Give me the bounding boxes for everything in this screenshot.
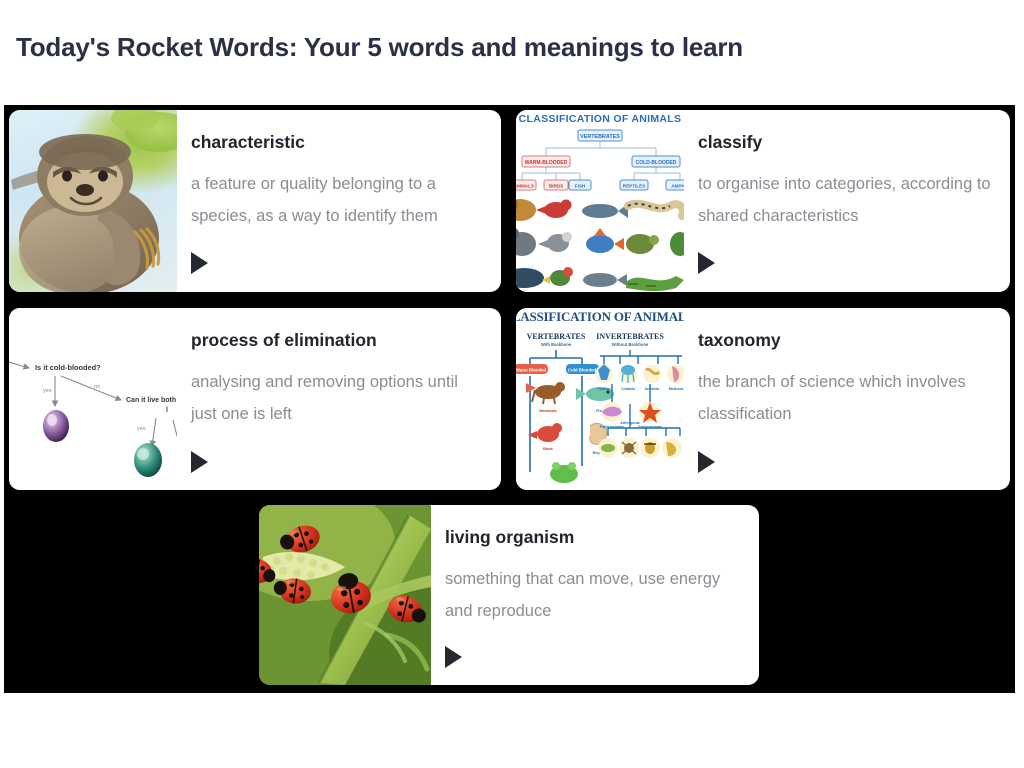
svg-text:Is it cold-blooded?: Is it cold-blooded? — [35, 363, 101, 372]
word-card-classify[interactable]: CLASSIFICATION OF ANIMALS VERTEBRATES WA… — [516, 110, 1010, 292]
svg-text:WARM-BLOODED: WARM-BLOODED — [525, 160, 568, 166]
svg-text:CLASSIFICATION OF ANIMALS: CLASSIFICATION OF ANIMALS — [516, 309, 684, 324]
svg-text:Porifera: Porifera — [598, 387, 611, 391]
word-term: classify — [698, 132, 996, 153]
svg-text:COLD-BLOODED: COLD-BLOODED — [636, 160, 677, 166]
thumbnail-ladybugs-photo — [259, 505, 431, 685]
rocket-words-page: Today's Rocket Words: Your 5 words and m… — [0, 0, 1024, 768]
card-body: classify to organise into categories, ac… — [684, 110, 1010, 292]
svg-text:VERTEBRATES: VERTEBRATES — [580, 134, 620, 140]
svg-text:Warm Blooded: Warm Blooded — [516, 368, 546, 373]
word-definition: something that can move, use energy and … — [445, 563, 745, 627]
card-body: process of elimination analysing and rem… — [177, 308, 501, 490]
play-audio-icon[interactable] — [445, 646, 462, 668]
svg-text:Arthropods: Arthropods — [620, 421, 640, 425]
thumbnail-taxonomy-diagram: CLASSIFICATION OF ANIMALS VERTEBRATES Wi… — [516, 308, 684, 490]
word-cards-stage: characteristic a feature or quality belo… — [4, 105, 1015, 693]
svg-text:BIRDS: BIRDS — [549, 184, 563, 189]
word-card-process-of-elimination[interactable]: Is it cold-blooded? yes no Can it live b… — [9, 308, 501, 490]
svg-text:yes: yes — [43, 388, 52, 394]
svg-text:l: l — [166, 407, 168, 414]
svg-text:MAMMALS: MAMMALS — [516, 184, 534, 189]
classification-of-animals-diagram: CLASSIFICATION OF ANIMALS VERTEBRATES WA… — [516, 110, 684, 292]
svg-text:Echinodermata: Echinodermata — [638, 425, 661, 429]
svg-text:INVERTEBRATES: INVERTEBRATES — [596, 332, 664, 341]
card-body: living organism something that can move,… — [431, 505, 759, 685]
thumbnail-decision-tree: Is it cold-blooded? yes no Can it live b… — [9, 308, 177, 490]
word-definition: to organise into categories, according t… — [698, 168, 996, 232]
word-definition: a feature or quality belonging to a spec… — [191, 168, 487, 232]
word-card-living-organism[interactable]: living organism something that can move,… — [259, 505, 759, 685]
thumbnail-sloth-photo — [9, 110, 177, 292]
svg-text:VERTEBRATES: VERTEBRATES — [527, 332, 586, 341]
svg-text:Without Backbone: Without Backbone — [612, 342, 649, 347]
play-audio-icon[interactable] — [698, 451, 715, 473]
svg-text:CLASSIFICATION OF ANIMALS: CLASSIFICATION OF ANIMALS — [519, 113, 682, 125]
play-audio-icon[interactable] — [191, 451, 208, 473]
svg-text:Cold Blooded: Cold Blooded — [568, 368, 596, 373]
svg-text:Mollusca: Mollusca — [669, 387, 684, 391]
svg-text:REPTILES: REPTILES — [623, 184, 645, 189]
svg-text:yes: yes — [137, 426, 146, 432]
page-title: Today's Rocket Words: Your 5 words and m… — [16, 32, 743, 63]
svg-text:AMPH: AMPH — [671, 184, 684, 189]
ladybugs-illustration — [259, 505, 431, 685]
svg-text:With Backbone: With Backbone — [541, 342, 572, 347]
word-card-taxonomy[interactable]: CLASSIFICATION OF ANIMALS VERTEBRATES Wi… — [516, 308, 1010, 490]
word-card-characteristic[interactable]: characteristic a feature or quality belo… — [9, 110, 501, 292]
decision-tree-illustration: Is it cold-blooded? yes no Can it live b… — [9, 308, 177, 490]
svg-text:Can it live both: Can it live both — [126, 397, 176, 404]
svg-text:Mammals: Mammals — [539, 409, 556, 413]
sloth-illustration — [9, 110, 177, 292]
play-audio-icon[interactable] — [191, 252, 208, 274]
play-audio-icon[interactable] — [698, 252, 715, 274]
svg-text:Platyhelminthes: Platyhelminthes — [600, 425, 625, 429]
svg-text:Birds: Birds — [543, 447, 553, 451]
thumbnail-classification-diagram: CLASSIFICATION OF ANIMALS VERTEBRATES WA… — [516, 110, 684, 292]
word-term: process of elimination — [191, 330, 487, 351]
card-body: characteristic a feature or quality belo… — [177, 110, 501, 292]
word-definition: analysing and removing options until jus… — [191, 366, 487, 430]
svg-text:Annelida: Annelida — [645, 387, 659, 391]
svg-text:FISH: FISH — [575, 184, 586, 189]
word-definition: the branch of science which involves cla… — [698, 366, 996, 430]
word-term: taxonomy — [698, 330, 996, 351]
word-term: characteristic — [191, 132, 487, 153]
svg-text:no: no — [94, 384, 100, 390]
classification-of-animals-full-diagram: CLASSIFICATION OF ANIMALS VERTEBRATES Wi… — [516, 308, 684, 490]
word-term: living organism — [445, 527, 745, 548]
svg-text:Cnidaria: Cnidaria — [621, 387, 635, 391]
card-body: taxonomy the branch of science which inv… — [684, 308, 1010, 490]
